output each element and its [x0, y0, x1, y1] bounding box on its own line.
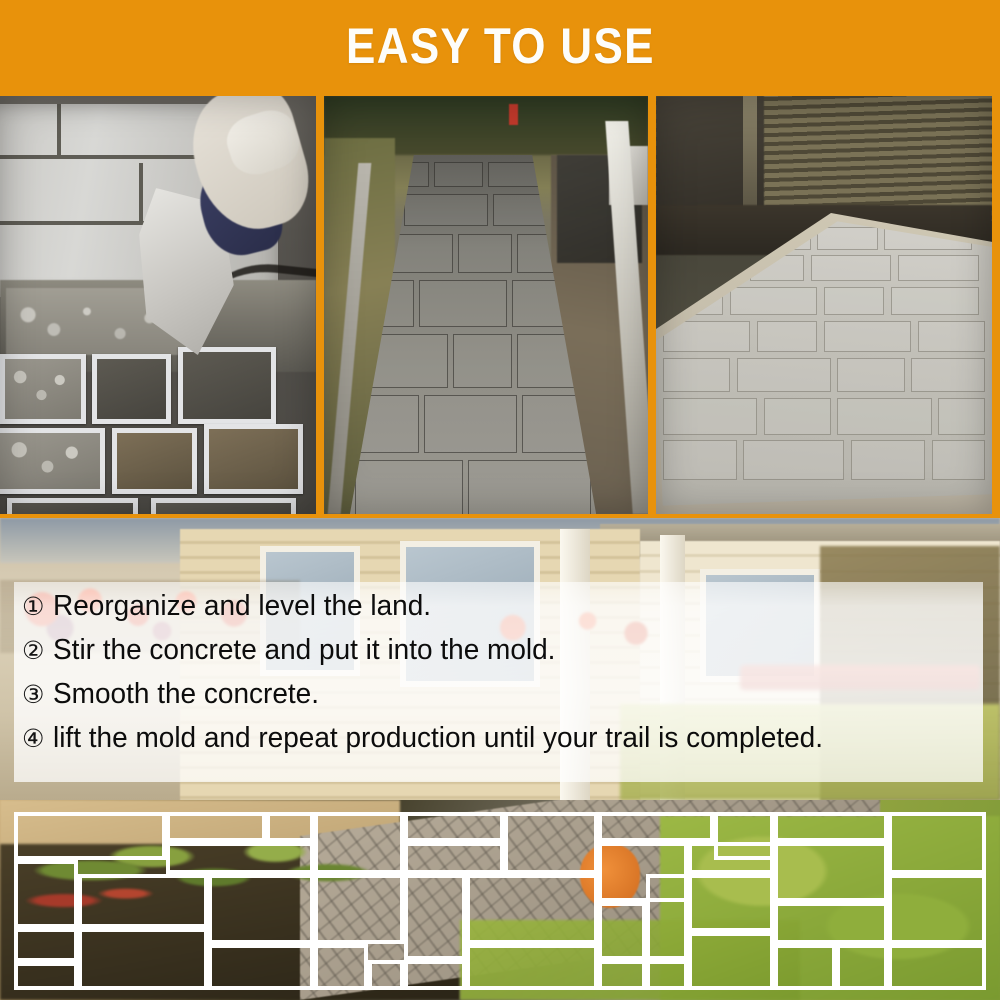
mold-cell	[208, 944, 314, 990]
photo-paver-patio	[656, 96, 992, 514]
mold-cell	[112, 428, 197, 495]
photo-paver-walkway-image	[324, 96, 648, 514]
paver	[851, 440, 925, 480]
page-title: EASY TO USE	[346, 17, 655, 75]
step-number-4: ④	[22, 726, 44, 751]
mold-cell	[166, 842, 314, 874]
mold-cell	[466, 874, 598, 944]
step-item: ④ lift the mold and repeat production un…	[22, 724, 983, 768]
paver	[663, 255, 744, 281]
mold-cell	[14, 928, 78, 962]
paver	[458, 234, 512, 274]
mold-cell	[14, 812, 166, 860]
paver	[424, 395, 518, 453]
paver	[898, 255, 979, 281]
paver	[468, 460, 591, 514]
mold-cell	[404, 960, 466, 990]
mold-cell	[504, 812, 598, 874]
paver	[663, 440, 737, 480]
step-item: ① Reorganize and level the land.	[22, 592, 983, 636]
paver	[764, 398, 831, 435]
mold-cell	[14, 860, 78, 928]
mold-cell	[314, 944, 368, 990]
mold-cell	[598, 960, 646, 990]
photo-paver-patio-image	[656, 96, 992, 514]
paver	[730, 287, 817, 315]
paver	[743, 440, 844, 480]
instruction-panel: ① Reorganize and level the land. ② Stir …	[14, 582, 983, 782]
paver	[918, 321, 985, 352]
paver	[891, 287, 978, 315]
slab-joint	[139, 163, 143, 222]
paver	[757, 321, 817, 352]
paver	[355, 460, 463, 514]
step-text-1: Reorganize and level the land.	[53, 592, 431, 621]
paver	[419, 280, 508, 327]
mold-cell	[646, 960, 688, 990]
mold-cell	[774, 842, 888, 902]
mold-cell	[7, 498, 138, 514]
mold-pattern-overlay	[0, 800, 1000, 1000]
mold-cell	[774, 902, 888, 944]
mold-cell	[78, 928, 208, 990]
step-text-2: Stir the concrete and put it into the mo…	[53, 636, 555, 665]
mold-cell	[266, 812, 314, 842]
mold-cell	[598, 902, 646, 960]
paver-patio	[656, 221, 992, 505]
mold-cell	[774, 944, 836, 990]
step-item: ③ Smooth the concrete.	[22, 680, 983, 724]
marker-flag	[509, 104, 519, 125]
fence-post	[743, 96, 756, 213]
mold-cell	[466, 944, 598, 990]
mold-cell	[314, 812, 404, 874]
mold-cell	[598, 812, 714, 842]
paver	[811, 255, 892, 281]
paver	[824, 321, 911, 352]
mold-cell	[688, 842, 774, 874]
paver	[404, 194, 488, 226]
mold-cell	[204, 424, 303, 494]
mold-outline-grid	[14, 812, 986, 990]
mold-cell	[888, 812, 986, 874]
step-number-2: ②	[22, 638, 44, 663]
mold-cell	[92, 354, 171, 424]
mold-cell	[688, 874, 774, 932]
paver	[837, 358, 904, 392]
paver	[938, 398, 985, 435]
mold-cell	[404, 812, 504, 842]
mold-cell	[368, 960, 404, 990]
mold-cell	[888, 944, 986, 990]
infographic-page: EASY TO USE	[0, 0, 1000, 1000]
mold-cell	[0, 354, 85, 424]
step-text-4: lift the mold and repeat production unti…	[53, 724, 823, 753]
photo-pour-concrete-image	[0, 96, 316, 514]
paver	[663, 358, 730, 392]
step-text-3: Smooth the concrete.	[53, 680, 319, 709]
paver	[817, 227, 877, 250]
slab-joint	[57, 104, 61, 154]
paver	[663, 398, 757, 435]
step-number-3: ③	[22, 682, 44, 707]
step-number-1: ①	[22, 594, 44, 619]
mold-cell	[404, 842, 504, 874]
mold-cell	[314, 874, 404, 944]
mold-cell	[774, 812, 888, 842]
mold-cell	[646, 874, 688, 960]
mold-cell	[78, 874, 208, 928]
paver	[837, 398, 931, 435]
mold-cell	[151, 498, 296, 514]
photo-paver-walkway	[324, 96, 648, 514]
photo-pour-concrete	[0, 96, 316, 514]
mold-cell	[888, 874, 986, 944]
mold-cell	[404, 874, 466, 960]
mold-cell	[14, 962, 78, 990]
mold-cell	[688, 932, 774, 990]
house-background-photo: ① Reorganize and level the land. ② Stir …	[0, 518, 1000, 800]
paver	[453, 334, 512, 388]
paver	[824, 287, 884, 315]
mold-cell	[166, 812, 266, 842]
header-banner: EASY TO USE	[0, 0, 1000, 92]
photo-row	[0, 92, 1000, 518]
paver	[434, 162, 483, 187]
mold-cell	[208, 874, 314, 944]
mold-cell	[836, 944, 888, 990]
paver	[737, 358, 831, 392]
paver	[911, 358, 985, 392]
step-item: ② Stir the concrete and put it into the …	[22, 636, 983, 680]
paver	[932, 440, 986, 480]
mold-cell	[0, 428, 105, 495]
